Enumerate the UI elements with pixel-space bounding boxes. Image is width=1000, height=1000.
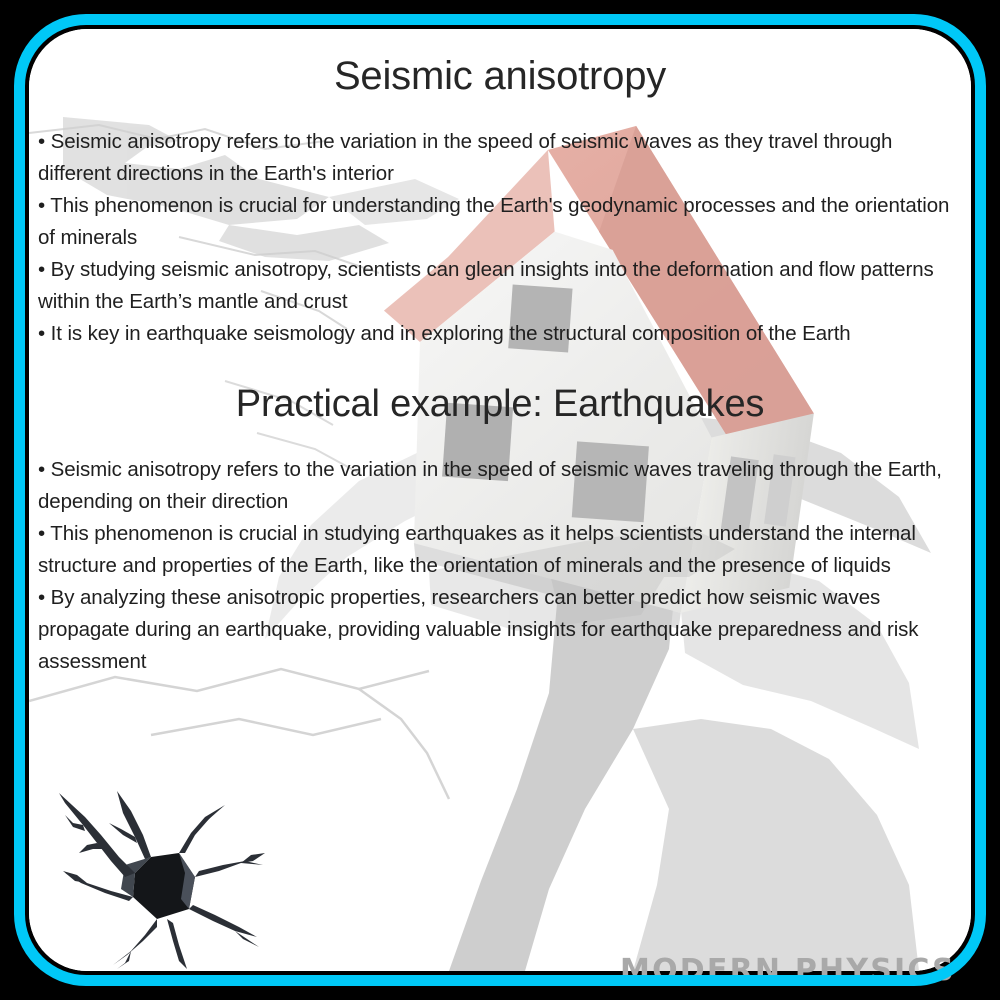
bullet-item: • By studying seismic anisotropy, scient… [38,254,968,318]
bullet-item: • Seismic anisotropy refers to the varia… [38,454,968,518]
bullet-item: • Seismic anisotropy refers to the varia… [38,126,968,190]
page-title: Seismic anisotropy [0,50,1000,102]
bullet-item: • This phenomenon is crucial in studying… [38,518,968,582]
section-1-bullets: • Seismic anisotropy refers to the varia… [38,126,968,350]
slide-content: Seismic anisotropy • Seismic anisotropy … [0,0,1000,1000]
bullet-item: • It is key in earthquake seismology and… [38,318,968,350]
slide-frame: Seismic anisotropy • Seismic anisotropy … [0,0,1000,1000]
section-2-heading: Practical example: Earthquakes [0,379,1000,429]
bullet-item: • This phenomenon is crucial for underst… [38,190,968,254]
bullet-item: • By analyzing these anisotropic propert… [38,582,968,678]
section-2-bullets: • Seismic anisotropy refers to the varia… [38,454,968,678]
